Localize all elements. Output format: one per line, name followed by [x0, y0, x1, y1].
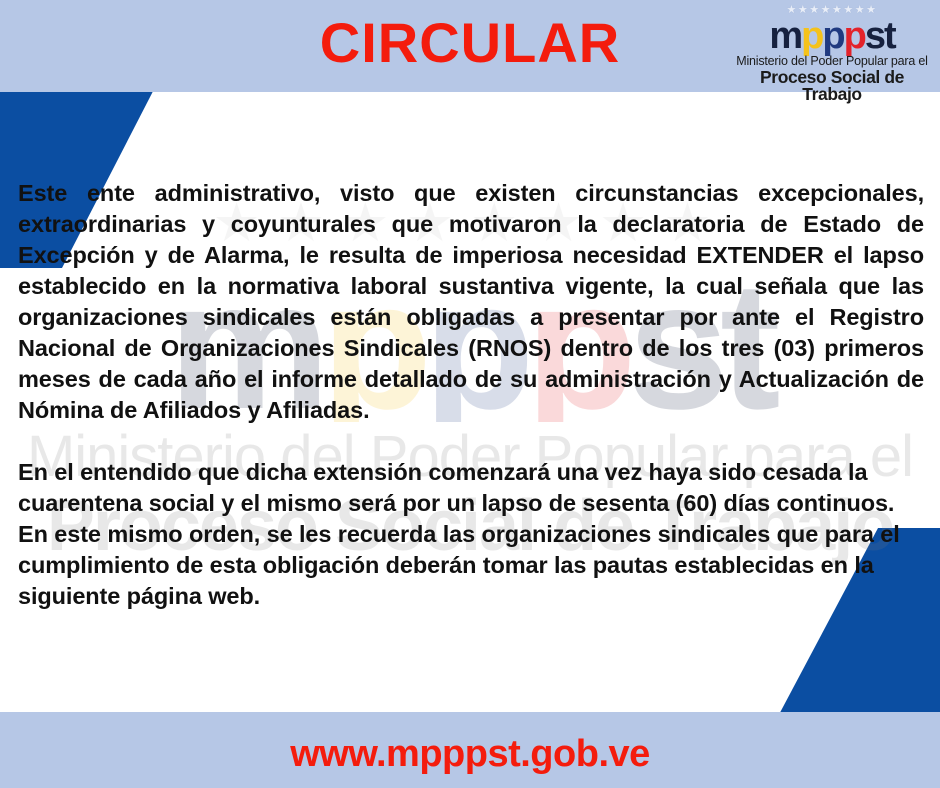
- body-paragraph-1: Este ente administrativo, visto que exis…: [18, 178, 924, 426]
- footer-website-url[interactable]: www.mpppst.gob.ve: [0, 733, 940, 776]
- ministry-logo: ★★★★★★★★ mpppst Ministerio del Poder Pop…: [734, 5, 930, 104]
- logo-letter-m: m: [769, 15, 801, 57]
- logo-acronym: mpppst: [734, 17, 930, 53]
- logo-letter-p2: p: [822, 15, 843, 57]
- logo-letter-p1: p: [801, 15, 822, 57]
- circular-body: Este ente administrativo, visto que exis…: [18, 178, 924, 612]
- body-paragraph-2: En el entendido que dicha extensión come…: [18, 457, 924, 612]
- circular-poster: ★★★★★★★★ mpppst Ministerio del Poder Pop…: [0, 0, 940, 788]
- logo-letter-p3: p: [844, 15, 865, 57]
- logo-subtitle-line2: Proceso Social de Trabajo: [734, 69, 930, 104]
- logo-letter-st: st: [865, 15, 895, 57]
- logo-subtitle-line1: Ministerio del Poder Popular para el: [734, 55, 930, 68]
